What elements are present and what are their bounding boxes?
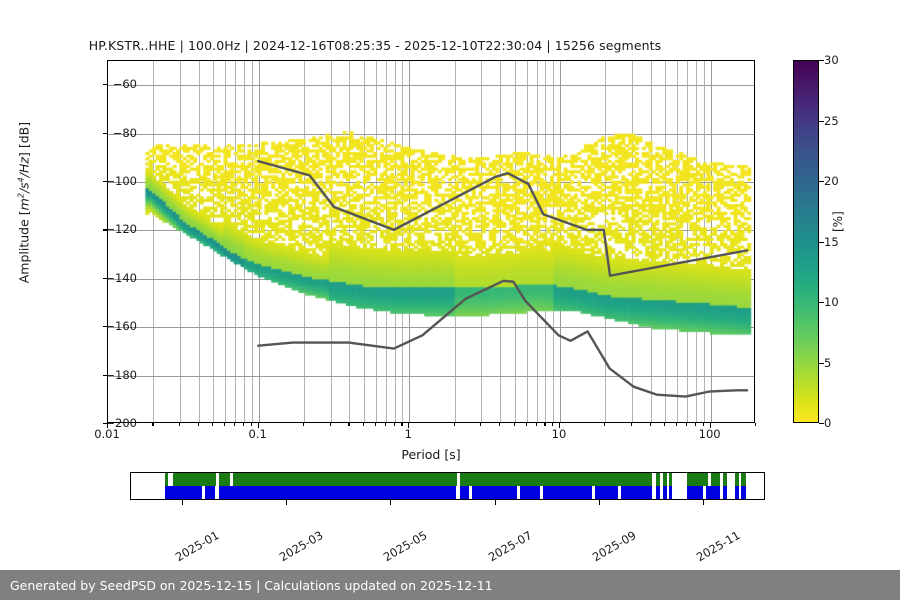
y-tick-mark xyxy=(103,84,108,85)
colorbar-tick-label: 30 xyxy=(824,53,839,67)
timeline-segment-green xyxy=(460,473,652,486)
x-tick-label: 0.1 xyxy=(249,427,267,441)
colorbar-tick-label: 10 xyxy=(824,295,839,309)
timeline-segment-blue xyxy=(219,486,456,499)
timeline-segment-blue xyxy=(460,486,469,499)
colorbar-tick-mark xyxy=(819,242,824,243)
x-tick-mark xyxy=(401,423,402,426)
timeline-tick-mark xyxy=(495,500,496,505)
timeline-segment-green xyxy=(233,473,457,486)
x-tick-label: 10 xyxy=(552,427,567,441)
x-tick-mark xyxy=(676,423,677,426)
y-tick-label: −140 xyxy=(105,271,137,285)
nlnm-curve xyxy=(258,281,747,397)
y-tick-mark xyxy=(103,278,108,279)
x-tick-mark xyxy=(330,423,331,426)
y-tick-mark xyxy=(103,181,108,182)
x-tick-mark xyxy=(198,423,199,426)
x-tick-label: 100 xyxy=(699,427,721,441)
y-tick-label: −160 xyxy=(105,319,137,333)
x-tick-mark xyxy=(695,423,696,426)
colorbar-tick-mark xyxy=(819,363,824,364)
timeline-segment-blue xyxy=(621,486,652,499)
y-tick-label: −80 xyxy=(113,126,137,140)
x-tick-mark xyxy=(650,423,651,426)
data-availability-timeline[interactable] xyxy=(130,472,765,500)
timeline-tick-label: 2025-03 xyxy=(277,528,326,564)
x-tick-mark xyxy=(552,423,553,426)
colorbar-tick-mark xyxy=(819,302,824,303)
y-axis-label: Amplitude [m2/s4/Hz] [dB] xyxy=(16,0,31,413)
x-tick-mark xyxy=(179,423,180,426)
x-tick-mark xyxy=(499,423,500,426)
y-tick-mark xyxy=(103,326,108,327)
timeline-segment-green xyxy=(165,473,168,486)
x-tick-mark xyxy=(686,423,687,426)
y-tick-label: −180 xyxy=(105,368,137,382)
colorbar-tick-label: 20 xyxy=(824,174,839,188)
timeline-tick-mark xyxy=(599,500,600,505)
timeline-segment-blue xyxy=(741,486,745,499)
colorbar-tick-label: 25 xyxy=(824,114,839,128)
x-tick-label: 1 xyxy=(405,427,412,441)
y-tick-label: −120 xyxy=(105,222,137,236)
x-tick-mark xyxy=(514,423,515,426)
timeline-tick-label: 2025-05 xyxy=(381,528,430,564)
x-tick-mark xyxy=(604,423,605,426)
x-tick-mark xyxy=(375,423,376,426)
x-axis-label: Period [s] xyxy=(107,447,755,462)
timeline-tick-label: 2025-11 xyxy=(694,528,743,564)
timeline-segment-green xyxy=(173,473,216,486)
x-tick-mark xyxy=(755,423,756,426)
x-tick-mark xyxy=(234,423,235,426)
colorbar-label: [%] xyxy=(831,192,845,232)
timeline-segment-blue xyxy=(165,486,202,499)
x-tick-label: 0.01 xyxy=(94,427,120,441)
timeline-segment-blue xyxy=(543,486,592,499)
peterson-noise-model-curves xyxy=(108,61,754,423)
timeline-segment-blue xyxy=(663,486,667,499)
colorbar-tick-label: 0 xyxy=(824,416,831,430)
timeline-segment-blue xyxy=(669,486,672,499)
x-tick-mark xyxy=(385,423,386,426)
footer-text: Generated by SeedPSD on 2025-12-15 | Cal… xyxy=(0,578,493,593)
x-tick-mark xyxy=(544,423,545,426)
x-tick-mark xyxy=(526,423,527,426)
colorbar-tick-mark xyxy=(819,60,824,61)
psd-plot-area xyxy=(107,60,755,423)
y-tick-label: −60 xyxy=(113,77,137,91)
timeline-segment-green xyxy=(741,473,745,486)
timeline-segment-green xyxy=(723,473,727,486)
timeline-segment-green xyxy=(687,473,707,486)
timeline-segment-green xyxy=(711,473,720,486)
timeline-segment-blue xyxy=(706,486,720,499)
timeline-segment-blue xyxy=(656,486,660,499)
x-tick-mark xyxy=(536,423,537,426)
timeline-segment-green xyxy=(735,473,739,486)
timeline-segment-green xyxy=(669,473,672,486)
y-tick-label: −100 xyxy=(105,174,137,188)
x-tick-mark xyxy=(631,423,632,426)
x-tick-mark xyxy=(363,423,364,426)
timeline-segment-blue xyxy=(472,486,517,499)
timeline-tick-mark xyxy=(182,500,183,505)
timeline-segment-blue xyxy=(735,486,739,499)
timeline-tick-label: 2025-07 xyxy=(485,528,534,564)
timeline-segment-green xyxy=(663,473,667,486)
timeline-segment-blue xyxy=(520,486,540,499)
colorbar-tick-mark xyxy=(819,121,824,122)
colorbar-tick-label: 15 xyxy=(824,235,839,249)
x-tick-mark xyxy=(152,423,153,426)
x-tick-mark xyxy=(212,423,213,426)
timeline-segment-blue xyxy=(723,486,727,499)
timeline-segment-green xyxy=(656,473,660,486)
x-tick-mark xyxy=(664,423,665,426)
x-tick-mark xyxy=(224,423,225,426)
x-tick-mark xyxy=(394,423,395,426)
colorbar-tick-label: 5 xyxy=(824,356,831,370)
timeline-tick-mark xyxy=(703,500,704,505)
timeline-tick-label: 2025-09 xyxy=(589,528,638,564)
timeline-segment-blue xyxy=(595,486,618,499)
colorbar-tick-mark xyxy=(819,181,824,182)
x-tick-mark xyxy=(243,423,244,426)
x-tick-mark xyxy=(454,423,455,426)
x-tick-mark xyxy=(251,423,252,426)
colorbar xyxy=(793,60,819,423)
footer-bar: Generated by SeedPSD on 2025-12-15 | Cal… xyxy=(0,570,900,600)
x-tick-mark xyxy=(348,423,349,426)
timeline-tick-mark xyxy=(286,500,287,505)
timeline-tick-mark xyxy=(390,500,391,505)
nhnm-curve xyxy=(258,161,747,276)
colorbar-tick-mark xyxy=(819,423,824,424)
y-tick-mark xyxy=(103,375,108,376)
x-tick-mark xyxy=(303,423,304,426)
timeline-segment-blue xyxy=(687,486,703,499)
timeline-tick-label: 2025-01 xyxy=(173,528,222,564)
timeline-segment-green xyxy=(219,473,230,486)
y-tick-mark xyxy=(103,133,108,134)
x-tick-mark xyxy=(480,423,481,426)
page-title: HP.KSTR..HHE | 100.0Hz | 2024-12-16T08:2… xyxy=(0,38,900,53)
timeline-segment-blue xyxy=(205,486,215,499)
x-tick-mark xyxy=(703,423,704,426)
y-tick-mark xyxy=(103,229,108,230)
